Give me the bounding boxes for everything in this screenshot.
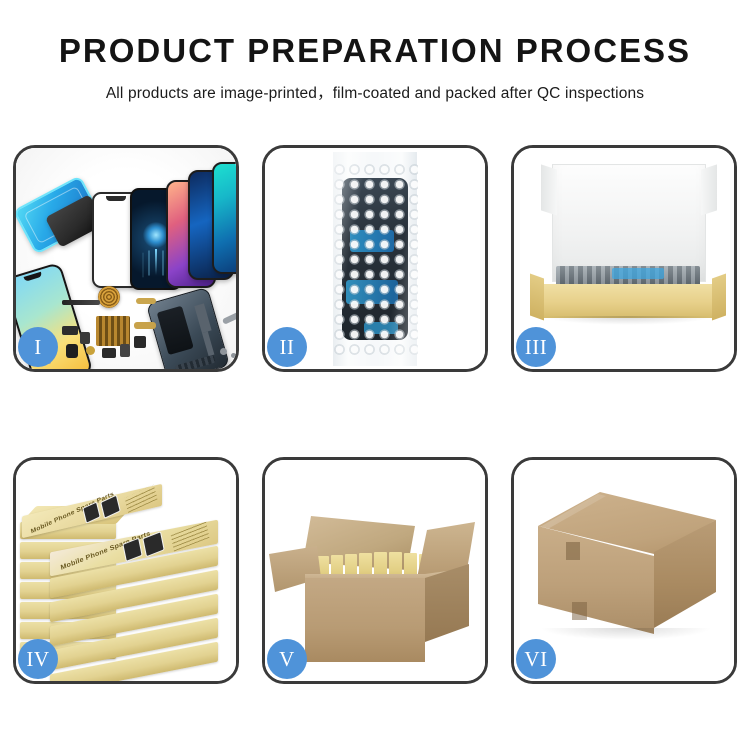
small-part — [120, 344, 130, 357]
small-part — [62, 326, 78, 335]
blue-tape-accent — [612, 268, 664, 279]
step-badge-5: V — [267, 639, 307, 679]
screws-group — [220, 348, 227, 355]
screw-tray-part — [96, 316, 130, 346]
box-spec-lines — [125, 485, 158, 513]
copper-coil-part — [98, 286, 120, 308]
step-badge-4: IV — [18, 639, 58, 679]
step-card-3[interactable]: III — [511, 145, 737, 372]
step-badge-2: II — [267, 327, 307, 367]
mailer-kraft-base — [540, 284, 716, 318]
step-card-1[interactable]: I — [13, 145, 239, 372]
page-title: PRODUCT PREPARATION PROCESS — [0, 34, 750, 67]
step-badge-3: III — [516, 327, 556, 367]
box-shadow — [542, 316, 714, 325]
small-part — [134, 336, 146, 348]
process-step-grid: I II — [13, 145, 737, 684]
phone-teal-streak — [212, 162, 236, 274]
step-card-5[interactable]: V — [262, 457, 488, 684]
carton-tape-mark — [566, 542, 580, 560]
ribbon-cable-part — [62, 300, 100, 305]
small-part — [136, 298, 156, 304]
step-badge-6: VI — [516, 639, 556, 679]
step-card-2[interactable]: II — [262, 145, 488, 372]
small-part — [80, 332, 90, 344]
box-shadow — [540, 628, 712, 640]
step-card-6[interactable]: VI — [511, 457, 737, 684]
mailer-white-lid — [552, 164, 706, 282]
small-part — [102, 348, 116, 358]
carton-tape-mark — [572, 602, 587, 620]
small-part — [86, 346, 95, 355]
plastic-gloss — [331, 148, 419, 369]
small-part — [134, 322, 156, 329]
page-subtitle: All products are image-printed，film-coat… — [0, 81, 750, 103]
step-card-4[interactable]: Mobile Phone Spare Parts Mobile Phone Sp… — [13, 457, 239, 684]
step-badge-1: I — [18, 327, 58, 367]
box-spec-lines — [171, 521, 210, 552]
carton-front-face — [305, 578, 425, 662]
page-header: PRODUCT PREPARATION PROCESS All products… — [0, 0, 750, 103]
small-part — [66, 344, 78, 358]
